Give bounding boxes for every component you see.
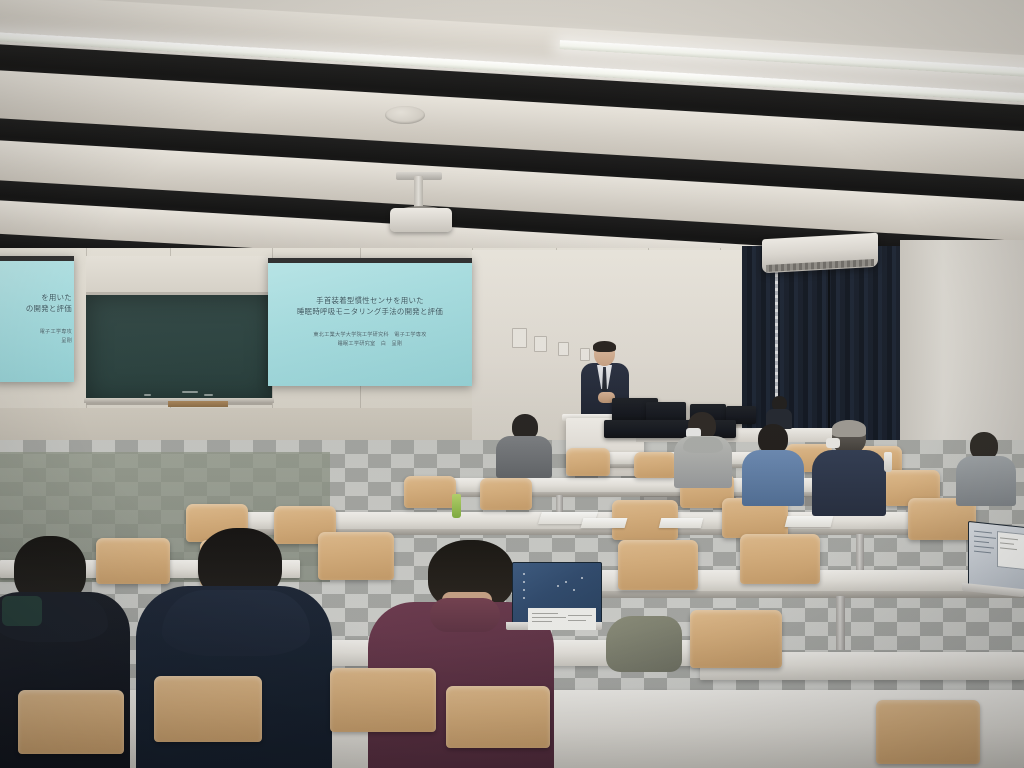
chair[interactable] xyxy=(876,700,980,764)
chair[interactable] xyxy=(618,540,698,590)
slide-left: を用いた の開発と評価 電子工学専攻 呈剛 xyxy=(0,256,74,382)
slide-left-title-1: を用いた xyxy=(26,292,72,303)
printed-handout[interactable] xyxy=(659,518,703,528)
desk-leg xyxy=(856,534,864,570)
slide-left-title-2: の開発と評価 xyxy=(26,303,72,314)
lecture-hall-photo: を用いた の開発と評価 電子工学専攻 呈剛 手首装着型慣性センサを用いた 睡眠時… xyxy=(0,0,1024,768)
ceiling xyxy=(0,0,1024,262)
wall-switch-2[interactable] xyxy=(558,342,569,356)
slide-title-line-2: 睡眠時呼吸モニタリング手法の開発と評価 xyxy=(297,306,443,317)
chair[interactable] xyxy=(154,676,262,742)
ceiling-projector xyxy=(390,208,452,232)
projection-screen-main: 手首装着型慣性センサを用いた 睡眠時呼吸モニタリング手法の開発と評価 東北工業大… xyxy=(268,258,472,386)
ceiling-speaker xyxy=(385,106,425,124)
green-drink-bottle[interactable] xyxy=(452,494,461,518)
chair[interactable] xyxy=(740,534,820,584)
chair[interactable] xyxy=(480,478,532,510)
slide-left-author: 呈剛 xyxy=(40,337,72,346)
chalk-tray-wood-block xyxy=(168,401,228,407)
projection-screen-left: を用いた の開発と評価 電子工学専攻 呈剛 xyxy=(0,256,74,382)
attendee-dark-top xyxy=(766,396,792,426)
open-laptop-right[interactable] xyxy=(968,521,1024,593)
desk-row-d-right-edge xyxy=(560,591,1024,598)
chair[interactable] xyxy=(330,668,436,732)
olive-bag[interactable] xyxy=(606,616,682,672)
wall-speaker-box xyxy=(512,328,527,348)
slide-title-line-1: 手首装着型慣性センサを用いた xyxy=(297,295,443,306)
chair[interactable] xyxy=(634,452,676,478)
printed-handout[interactable] xyxy=(785,516,834,527)
water-bottle[interactable] xyxy=(884,452,892,472)
wall-switch-1[interactable] xyxy=(534,336,547,352)
slide-main: 手首装着型慣性センサを用いた 睡眠時呼吸モニタリング手法の開発と評価 東北工業大… xyxy=(268,258,472,386)
printed-handout[interactable] xyxy=(581,518,628,528)
presenter-hair xyxy=(593,341,616,352)
chair[interactable] xyxy=(566,448,610,476)
slide-left-affiliation: 電子工学専攻 xyxy=(40,328,72,337)
attendee-grey-hoodie xyxy=(674,412,732,486)
attendee-navy-sweater xyxy=(812,420,886,512)
desk-leg xyxy=(836,596,845,650)
chair[interactable] xyxy=(446,686,550,748)
attendee-grey-tweed-jacket xyxy=(496,414,552,476)
attendee-light-jacket xyxy=(956,432,1016,502)
attendee-blue-shirt xyxy=(742,424,804,502)
chair[interactable] xyxy=(690,610,782,668)
chair[interactable] xyxy=(18,690,124,754)
slide-lab-author: 睡眠工学研究室 白 呈剛 xyxy=(313,340,426,349)
chair[interactable] xyxy=(404,476,456,508)
wall-panel-upper xyxy=(86,256,272,292)
slide-affiliation: 東北工業大学大学院工学研究科 電子工学専攻 xyxy=(313,331,426,340)
chalkboard xyxy=(86,292,272,405)
laptop-center-document-overlay xyxy=(528,608,596,630)
